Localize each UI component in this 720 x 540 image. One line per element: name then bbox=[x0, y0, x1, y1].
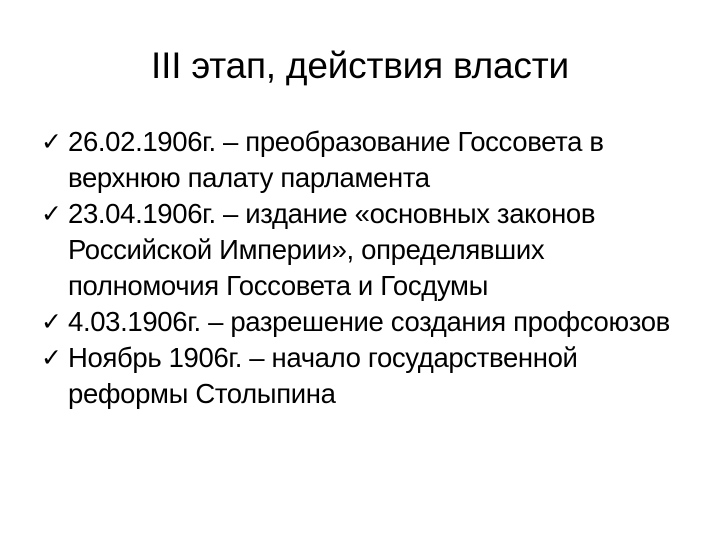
bullet-list: ✓ 26.02.1906г. – преобразование Госсовет… bbox=[40, 124, 688, 412]
list-item-label: 4.03.1906г. – разрешение создания профсо… bbox=[68, 304, 688, 340]
checkmark-icon: ✓ bbox=[41, 124, 65, 160]
list-item: ✓ 23.04.1906г. – издание «основных закон… bbox=[40, 196, 688, 304]
page-title: III этап, действия власти bbox=[36, 44, 684, 88]
slide: III этап, действия власти ✓ 26.02.1906г.… bbox=[0, 0, 720, 540]
list-item: ✓ 4.03.1906г. – разрешение создания проф… bbox=[40, 304, 688, 340]
list-item-label: 26.02.1906г. – преобразование Госсовета … bbox=[68, 124, 688, 196]
list-item-label: 23.04.1906г. – издание «основных законов… bbox=[68, 196, 688, 304]
list-item: ✓ Ноябрь 1906г. – начало государственной… bbox=[40, 340, 688, 412]
list-item: ✓ 26.02.1906г. – преобразование Госсовет… bbox=[40, 124, 688, 196]
checkmark-icon: ✓ bbox=[41, 196, 65, 232]
checkmark-icon: ✓ bbox=[41, 340, 65, 376]
list-item-label: Ноябрь 1906г. – начало государственной р… bbox=[68, 340, 688, 412]
checkmark-icon: ✓ bbox=[41, 304, 65, 340]
